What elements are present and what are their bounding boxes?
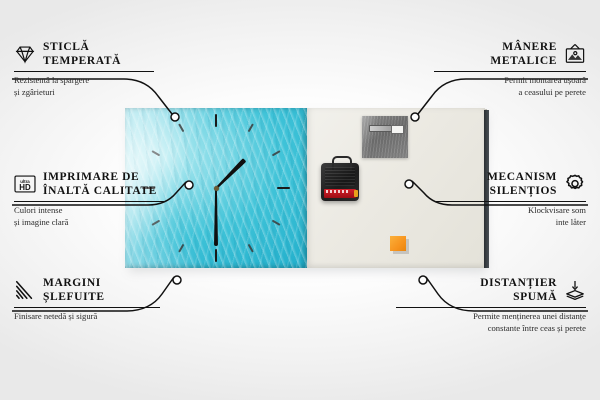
clock-tick [216,187,281,226]
callout-header: MECANISM SILENȚIOS [436,170,586,198]
clock-tick [178,188,217,253]
diamond-icon [14,43,36,65]
callout-rule [14,71,154,72]
connector-dot-3 [173,276,181,284]
callout-title: MARGINI ȘLEFUITE [43,276,105,304]
hanger-slot [369,125,395,132]
product-photo [125,108,485,268]
feature-callout-silent-mechanism: MECANISM SILENȚIOS Klockvisare som inte … [436,170,586,228]
svg-text:HD: HD [19,183,31,192]
picture-hanger-icon [564,43,586,65]
feature-callout-tempered-glass: STICLĂ TEMPERATĂ Rezistentă la spargere … [14,40,154,98]
callout-title: MÂNERE METALICE [490,40,557,68]
battery [324,189,356,198]
clock-tick [216,150,281,189]
callout-rule [14,307,160,308]
callout-title: MECANISM SILENȚIOS [487,170,557,198]
callout-rule [396,307,586,308]
press-down-icon [564,279,586,301]
callout-subtitle: Klockvisare som inte låter [436,205,586,228]
callout-header: DISTANȚIER SPUMĂ [396,276,586,304]
callout-subtitle: Rezistentă la spargere și zgârieturi [14,75,154,98]
callout-header: STICLĂ TEMPERATĂ [14,40,154,68]
callout-rule [14,201,164,202]
foam-spacer [390,236,406,251]
battery-label [326,190,350,193]
clock-center-pin [214,186,219,191]
clock-tick [215,114,217,188]
clock-tick [215,188,254,253]
gear-icon [564,173,586,195]
feature-callout-polished-edges: MARGINI ȘLEFUITE Finisare netedă și sigu… [14,276,160,323]
callout-subtitle: Permite menținerea unei distanțe constan… [396,311,586,334]
clock-tick [216,187,290,189]
clock-tick [215,123,254,188]
callout-header: ultra HD IMPRIMARE DE ÎNALTĂ CALITATE [14,170,164,198]
clock-hour-hand [214,158,246,190]
quartz-movement [321,163,359,201]
callout-subtitle: Permit montarea ușoară a ceasului pe per… [434,75,586,98]
clock-minute-hand [214,188,218,246]
feature-callout-metal-handles: MÂNERE METALICE Permit montarea ușoară a… [434,40,586,98]
callout-header: MÂNERE METALICE [434,40,586,68]
clock-tick [178,123,217,188]
feature-callout-hq-print: ultra HD IMPRIMARE DE ÎNALTĂ CALITATE Cu… [14,170,164,228]
metal-hanger-plate [362,116,408,158]
callout-subtitle: Culori intense și imagine clară [14,205,164,228]
callout-subtitle: Finisare netedă și sigură [14,311,160,322]
callout-title: STICLĂ TEMPERATĂ [43,40,121,68]
feature-callout-foam-spacer: DISTANȚIER SPUMĂ Permite menținerea unei… [396,276,586,334]
clock-tick [215,188,217,262]
callout-header: MARGINI ȘLEFUITE [14,276,160,304]
callout-rule [436,201,586,202]
callout-rule [434,71,586,72]
callout-title: DISTANȚIER SPUMĂ [480,276,557,304]
infographic-stage: STICLĂ TEMPERATĂ Rezistentă la spargere … [0,0,600,400]
ultra-hd-icon: ultra HD [14,173,36,195]
movement-ribs [325,167,355,186]
polished-edges-icon [14,279,36,301]
callout-title: IMPRIMARE DE ÎNALTĂ CALITATE [43,170,157,198]
